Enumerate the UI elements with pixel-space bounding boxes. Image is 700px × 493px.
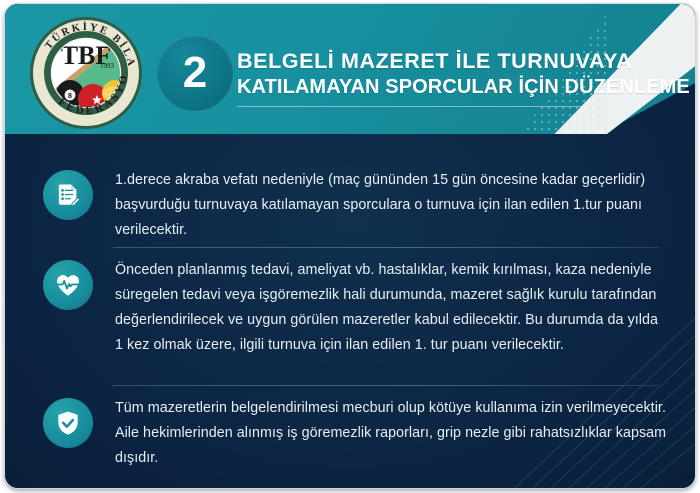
svg-text:1993: 1993 — [100, 62, 115, 70]
section-number-badge: 2 — [157, 35, 233, 111]
list-item: Tüm mazeretlerin belgelendirilmesi mecbu… — [43, 396, 667, 471]
content-divider — [113, 247, 659, 248]
list-item: 1.derece akraba vefatı nedeniyle (maç gü… — [43, 168, 667, 243]
header-title-line-1: BELGELİ MAZERET İLE TURNUVAYA — [237, 48, 657, 74]
section-number: 2 — [157, 35, 233, 111]
federation-logo: TBF 1993 8 TÜRKİYE BİLARDO — [27, 14, 145, 132]
announcement-card: TBF 1993 8 TÜRKİYE BİLARDO — [4, 3, 696, 489]
list-item: Önceden planlanmış tedavi, ameliyat vb. … — [43, 258, 667, 358]
content-area: 1.derece akraba vefatı nedeniyle (maç gü… — [5, 134, 696, 489]
document-edit-icon — [43, 170, 93, 220]
shield-check-icon — [43, 398, 93, 448]
list-item-text: Tüm mazeretlerin belgelendirilmesi mecbu… — [115, 396, 667, 471]
list-item-text: 1.derece akraba vefatı nedeniyle (maç gü… — [115, 168, 667, 243]
list-item-text: Önceden planlanmış tedavi, ameliyat vb. … — [115, 258, 667, 358]
header-title-underline — [237, 106, 585, 107]
content-divider — [113, 385, 659, 386]
heart-pulse-icon — [43, 260, 93, 310]
header-title-line-2: KATILAMAYAN SPORCULAR İÇİN DÜZENLEME — [237, 74, 657, 100]
header-title-block: BELGELİ MAZERET İLE TURNUVAYA KATILAMAYA… — [237, 48, 657, 100]
svg-text:8: 8 — [68, 93, 72, 100]
